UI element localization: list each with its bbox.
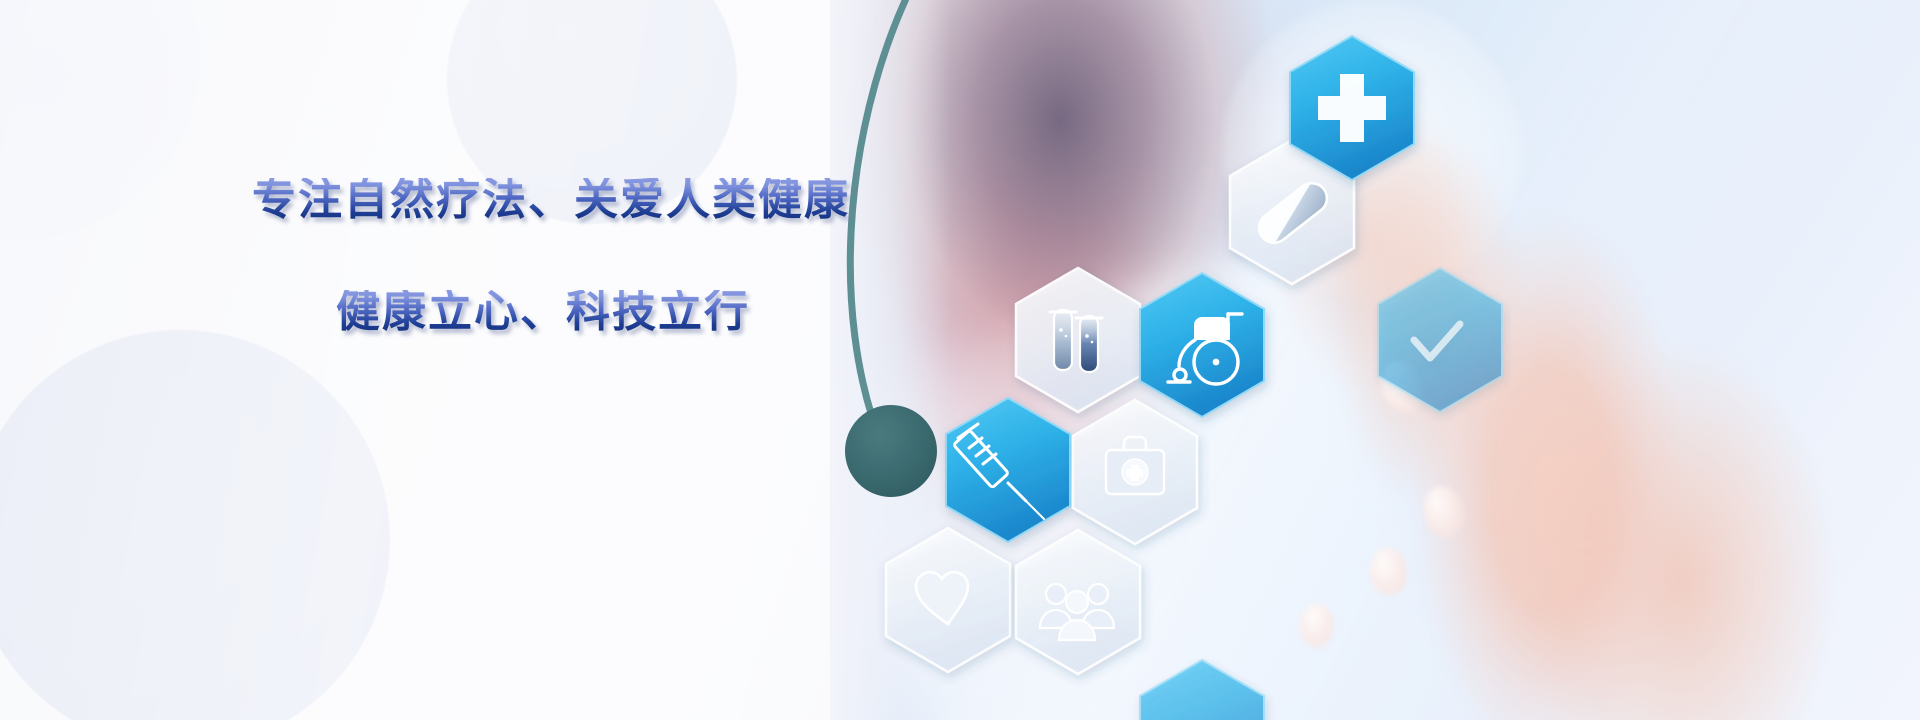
hexagon-svg — [830, 0, 1920, 720]
hex-extra-bottom — [1140, 660, 1264, 720]
headline-line-1: 专注自然疗法、关爱人类健康 — [252, 178, 892, 222]
hex-testtubes — [1016, 268, 1140, 412]
teal-dot — [845, 405, 937, 497]
hex-syringe — [946, 398, 1070, 542]
hex-people — [1016, 530, 1140, 674]
headline-block: 专注自然疗法、关爱人类健康 健康立心、科技立行 — [252, 178, 892, 334]
hex-check — [1378, 268, 1502, 412]
medical-photo — [830, 0, 1920, 720]
hex-wheelchair — [1140, 273, 1264, 417]
headline-line-2: 健康立心、科技立行 — [336, 290, 892, 334]
hexagon-interface — [830, 0, 1920, 720]
hex-heart — [886, 528, 1010, 672]
hex-medkit — [1073, 400, 1197, 544]
hero-banner: 专注自然疗法、关爱人类健康 健康立心、科技立行 — [0, 0, 1920, 720]
